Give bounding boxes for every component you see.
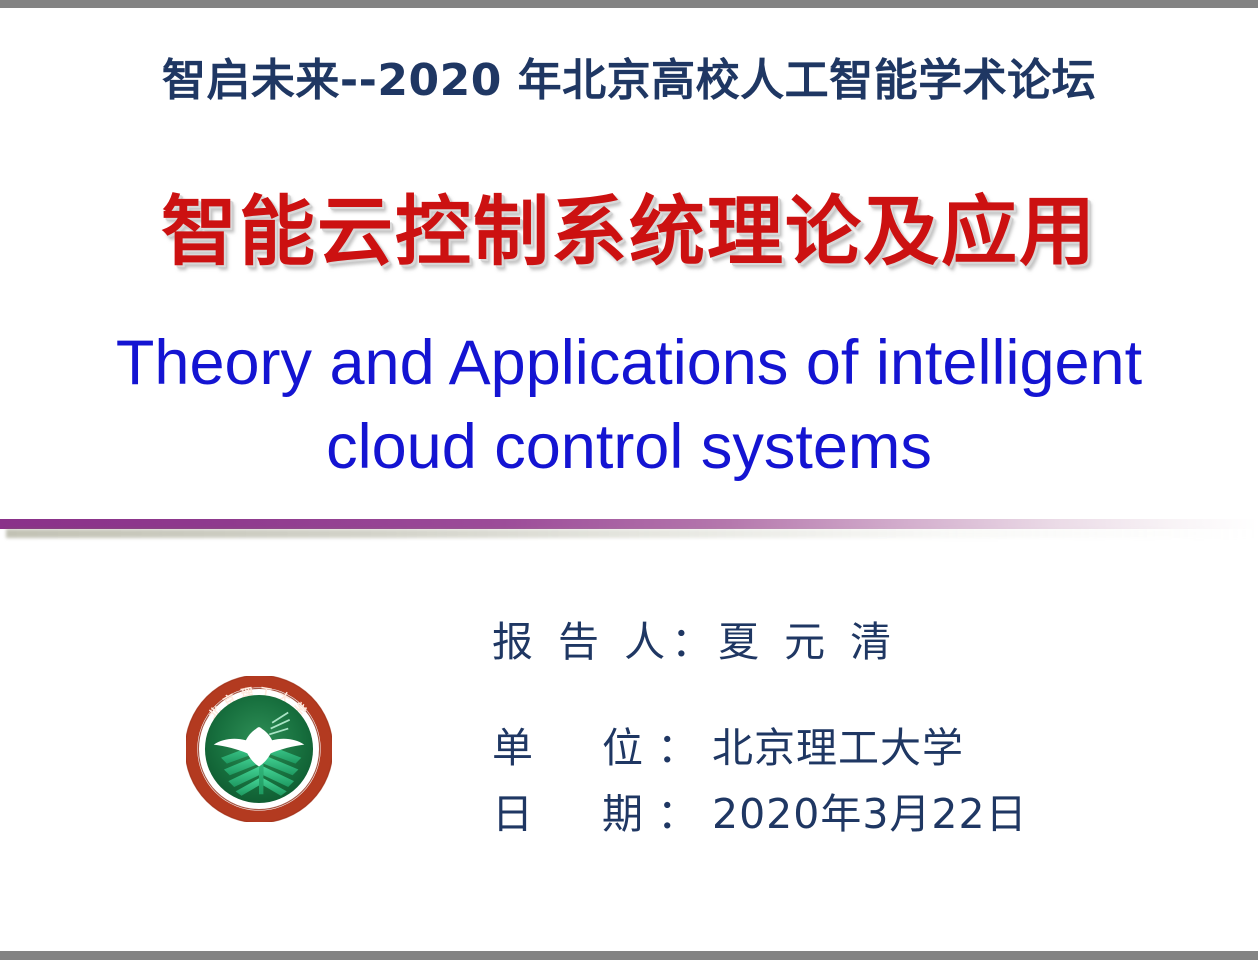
affiliation-row: 单 位：北京理工大学 (492, 714, 1028, 774)
divider-bar (0, 519, 1258, 529)
subtitle-line-2: cloud control systems (40, 406, 1218, 490)
presenter-info-block: 报 告 人：夏 元 清 单 位：北京理工大学 日 期：2020年3月22日 (492, 608, 1028, 840)
presentation-slide: 智启未来--2020 年北京高校人工智能学术论坛 智能云控制系统理论及应用 Th… (0, 0, 1258, 960)
presenter-name: 夏 元 清 (718, 618, 897, 666)
date-label: 日 期： (492, 790, 712, 838)
date-row: 日 期：2020年3月22日 (492, 780, 1028, 840)
divider-shadow (6, 529, 1258, 538)
affiliation-value: 北京理工大学 (712, 724, 964, 772)
purple-divider (0, 516, 1258, 542)
affiliation-label: 单 位： (492, 724, 712, 772)
bit-university-logo: 北京理工大学 BEIJING INSTITUTE OF TECHNOLOGY (186, 676, 332, 822)
date-value: 2020年3月22日 (712, 790, 1028, 838)
subtitle-english: Theory and Applications of intelligent c… (40, 322, 1218, 490)
subtitle-line-1: Theory and Applications of intelligent (40, 322, 1218, 406)
presenter-row: 报 告 人：夏 元 清 (492, 608, 1028, 668)
slide-frame-bottom-bar (0, 951, 1258, 960)
slide-frame-top-bar (0, 0, 1258, 8)
page-title: 智能云控制系统理论及应用 (0, 170, 1258, 280)
conference-header: 智启未来--2020 年北京高校人工智能学术论坛 (0, 44, 1258, 108)
presenter-label: 报 告 人： (492, 618, 718, 666)
